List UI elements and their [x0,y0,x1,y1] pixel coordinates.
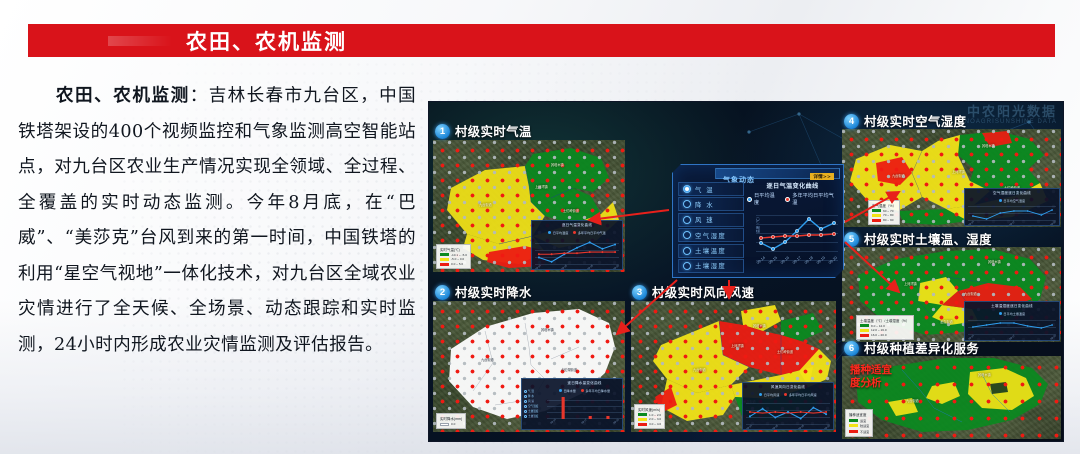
minichart-legend: 日平均风速 多年平均日平均风速 [743,392,833,397]
legend-swatch [849,424,858,427]
legend-entry: 日平均空气湿度 [999,198,1025,203]
radio-selected-icon [683,185,691,193]
radio-label: 土壤湿度 [695,261,726,270]
panel-title-4: 村级实时空气湿度 [864,112,966,130]
village-name: 九台街道 [481,357,494,362]
hud-chart-xaxis: 09-14 09-15 09-16 09-17 09-18 09-19 09-2… [756,262,838,266]
panel-title-1: 村级实时气温 [455,122,532,140]
radio-option-air-humidity[interactable]: 空气湿度 [678,228,744,242]
xtick: 09-14 [535,264,542,270]
legend-label: 日降水量 [563,388,575,393]
legend-row: 3.0 ~ 4.0 [638,422,661,426]
legend-value: 8.0 ~ 12.0 [871,324,885,328]
legend-label: 多年平均日降水量 [585,388,610,393]
legend-dot-blue [747,197,752,202]
legend-row: -5.0 ~ 0.0 [440,257,467,261]
rain-radio-item: 气 温 [524,389,546,393]
radio-icon [683,216,691,224]
legend-label: 日平均温度 [553,230,568,235]
legend-swatch [440,258,449,261]
legend-row: 12.0 ~ 16.0 [860,328,910,332]
map-panel-4[interactable]: 其塔木镇 上河湾镇 九台街道 土们岭街道 空气湿度（%） 60 ~ 70 70 … [842,129,1061,227]
minichart-xaxis: 09-14 09-16 09-18 09-20 [535,266,619,269]
xtick: 09-17 [581,418,588,424]
radio-option-wind-speed[interactable]: 风 速 [678,213,744,227]
minichart-title: 风速风向日变化曲线 [743,385,833,390]
legend-swatch [440,423,449,426]
radio-icon [683,247,691,255]
legend-row: 0.0 [440,422,462,426]
xtick: 09-20 [612,264,619,270]
hud-line-chart[interactable]: 逐日气温变化曲线 日平均温度 多年平均日平均气温 温度（℃） [747,181,838,273]
radio-label: 气 温 [528,389,534,393]
village-name: 土们岭街道 [563,208,579,213]
legend-title: 土壤温度（℃）/土壤湿度（%） [860,318,910,323]
rain-radio-item: 土壤湿度 [524,414,546,418]
legend-temperature: 实时气温(℃) -10.1 ~ -5.0 -5.0 ~ 0.0 0.0 ~ 5.… [436,244,471,269]
village-name: 土们岭街道 [777,349,793,354]
xtick: 09-20 [1049,334,1056,340]
body-paragraph: 农田、农机监测：吉林长春市九台区，中国铁塔架设的400个视频监控和气象监测高空智… [18,78,416,438]
legend-swatch [872,219,881,222]
village-name: 九台街道 [964,291,977,296]
slide-canvas: 农田、农机监测 农田、农机监测：吉林长春市九台区，中国铁塔架设的400个视频监控… [0,0,1080,454]
legend-entry-multiyear-mean: 多年平均日平均气温 [785,192,838,206]
panel-title-3: 村级实时风向风速 [652,283,754,301]
village-name: 上河湾镇 [535,184,548,189]
legend-swatch [860,334,869,337]
legend-swatch [849,419,858,422]
title-decoration [108,36,172,46]
legend-value: 3.0 ~ 4.0 [649,422,661,426]
legend-dot [784,393,787,396]
map-panel-2[interactable]: 其塔木镇 九台街道 卡伦湖街道 实时降水(mm) 0.0 气 温 降 水 风 速… [433,301,625,432]
legend-value: -5.0 ~ 0.0 [451,257,464,261]
radio-icon[interactable] [524,405,527,408]
legend-label: 日平均温度 [754,192,779,206]
hud-variable-radio-group[interactable]: 气 温 降 水 风 速 空气湿度 土壤温度 [678,182,744,274]
minichart-title: 土壤温湿度逐日变化曲线 [965,304,1059,309]
chart-series [968,205,1056,221]
xtick: 09-16 [561,264,568,270]
legend-row: 80 ~ 90 [872,218,896,222]
rain-radio-item: 风 速 [524,399,546,403]
minichart-xaxis: 09-14 09-17 09-20 [968,336,1056,339]
village-name: 其塔木镇 [988,259,1001,264]
legend-label: 多年平均日平均气温 [578,230,606,235]
legend-dot [559,389,562,392]
legend-label: 日平均风速 [764,392,779,397]
legend-value: 70 ~ 80 [883,213,893,217]
panel-label-2[interactable]: 2 村级实时降水 [435,283,532,301]
legend-row: 1.0 ~ 2.0 [638,413,661,417]
legend-entry-daily-mean: 日平均温度 [747,192,779,206]
radio-icon [683,231,691,239]
legend-value: 16.0 ~ 20.0 [871,333,887,337]
radio-option-soil-temp[interactable]: 土壤温度 [678,244,744,258]
panel-badge-5: 5 [844,232,859,247]
minichart-temperature[interactable]: 逐日气温变化曲线 日平均温度 多年平均日平均气温 09-14 [531,220,623,270]
legend-value: 12.0 ~ 16.0 [871,328,887,332]
radio-option-precipitation[interactable]: 降 水 [678,197,744,211]
xtick: 09-14 [550,418,557,424]
village-name: 上河湾镇 [731,343,744,348]
rain-radio-item: 空气湿度 [524,404,546,408]
panel-title-6: 村级种植差异化服务 [864,339,979,357]
legend-row: 较适宜 [849,423,869,428]
minichart-soil[interactable]: 土壤温湿度逐日变化曲线 日平均土壤温度 09-14 09-17 09-20 [964,301,1060,341]
hud-chart-plot: 温度（℃） [756,209,838,261]
minichart-humidity[interactable]: 空气湿度逐日变化曲线 日平均空气湿度 09-14 09-17 09-20 [964,188,1060,226]
minichart-legend: 日降水量 多年平均日降水量 [547,388,622,393]
legend-swatch [440,263,449,266]
village-name: 其塔木镇 [982,143,995,148]
panel-badge-1: 1 [435,124,450,139]
radio-option-soil-humidity[interactable]: 土壤湿度 [678,259,744,273]
minichart-title: 逐日降水量变化曲线 [547,381,622,386]
minichart-plot [968,318,1056,335]
radio-label: 气 温 [695,185,714,194]
rain-radio-item: 土壤温度 [524,409,546,413]
village-name: 其塔木镇 [551,162,564,167]
legend-entry: 日降水量 [559,388,576,393]
legend-value: 0.0 [451,422,455,426]
minichart-plot [535,237,619,265]
minichart-legend: 日平均土壤温度 [965,311,1059,316]
legend-value: 0.0 ~ 5.0 [451,262,463,266]
legend-swatch [860,324,869,327]
village-name: 九台街道 [892,173,905,178]
legend-dot [581,389,584,392]
chart-series [968,318,1056,335]
legend-label: 日平均空气湿度 [1003,198,1025,203]
minichart-plot [968,205,1056,221]
legend-label: 多年平均日平均风速 [789,392,817,397]
rain-radio-item: 降 水 [524,394,546,398]
minichart-xaxis: 09-14 09-17 09-20 [968,222,1056,225]
minichart-rainfall[interactable]: 气 温 降 水 风 速 空气湿度 土壤温度 土壤湿度 逐日降水量变化曲线 日降水… [521,378,623,430]
radio-label: 空气湿度 [528,404,538,408]
minichart-wind[interactable]: 风速风向日变化曲线 日平均风速 多年平均日平均风速 09-14 [742,382,834,430]
legend-value: 适宜 [860,418,866,423]
paragraph-colon: ： [190,86,209,106]
legend-entry: 日平均土壤温度 [999,311,1025,316]
hud-more-button[interactable]: 详情>> [810,173,834,180]
radio-label: 土壤湿度 [528,414,538,418]
xtick: 09-18 [797,424,804,430]
legend-value: 不适宜 [860,429,869,434]
legend-dot [999,312,1002,315]
legend-row: 2.0 ~ 3.0 [638,417,661,421]
xtick: 09-16 [772,424,779,430]
village-name: 卡伦湖街道 [561,367,577,372]
legend-dot [759,393,762,396]
chart-series [746,399,830,425]
weather-hud-panel[interactable]: 气象动态 详情>> 气 温 降 水 风 速 空气湿度 [672,164,844,278]
radio-icon[interactable] [524,390,527,393]
legend-dot [999,199,1002,202]
minichart-title: 逐日气温变化曲线 [532,223,622,228]
legend-humidity: 空气湿度（%） 60 ~ 70 70 ~ 80 80 ~ 90 [868,200,900,225]
legend-row: 0.0 ~ 5.0 [440,262,467,266]
radio-icon[interactable] [524,395,527,398]
legend-label: 日平均土壤温度 [1003,311,1025,316]
legend-title: 实时降水(mm) [440,416,462,421]
radio-label: 空气湿度 [695,231,726,240]
village-name: 上河湾镇 [952,169,965,174]
legend-value: 2.0 ~ 3.0 [649,417,661,421]
legend-entry: 多年平均日降水量 [581,388,610,393]
legend-entry: 多年平均日平均气温 [573,230,605,235]
legend-title: 实时气温(℃) [440,247,467,252]
panel6-overlay-text: 播种适宜度分析 [850,364,892,390]
legend-row: 70 ~ 80 [872,213,896,217]
map-panel-1[interactable]: 其塔木镇 上河湾镇 九台街道 土们岭街道 实时气温(℃) -10.1 ~ -5.… [433,140,625,272]
village-name: 上河湾镇 [904,281,917,286]
legend-wind: 实时风速(m/s) 1.0 ~ 2.0 2.0 ~ 3.0 3.0 ~ 4.0 [634,404,665,429]
xtick: 09-20 [612,418,619,424]
village-name: 龙嘉街道 [940,319,953,324]
legend-swatch [860,329,869,332]
legend-row: 适宜 [849,418,869,423]
dashboard-screenshot: 中农阳光数据 SINOAGRISUNSHINE DATA 1 村级实时气温 [428,101,1064,442]
legend-row: -10.1 ~ -5.0 [440,253,467,257]
hud-header-bar: 气象动态 详情>> [715,168,840,179]
radio-label: 风 速 [695,215,714,224]
chart-series [535,237,619,265]
radio-label: 风 速 [528,399,534,403]
village-name: 九台街道 [479,202,492,207]
legend-value: 1.0 ~ 2.0 [649,413,661,417]
village-name: 其塔木镇 [978,372,991,377]
legend-dot [548,231,551,234]
legend-dot [573,231,576,234]
map-panel-3[interactable]: 其塔木镇 上河湾镇 土们岭街道 九台街道 龙嘉街道 实时风速(m/s) 1.0 … [631,301,836,432]
legend-entry: 多年平均日平均风速 [784,392,816,397]
map-panel-5[interactable]: 其塔木镇 上河湾镇 九台街道 土们岭街道 龙嘉街道 土壤温度（℃）/土壤湿度（%… [842,247,1061,342]
xtick: 09-18 [586,264,593,270]
minichart-plot [746,399,830,425]
hud-chart-series [756,209,838,261]
xtick: 09-20 [1049,220,1056,226]
panel-label-3[interactable]: 3 村级实时风向风速 [632,283,754,301]
village-name: 其塔木镇 [541,327,554,332]
legend-row: 不适宜 [849,429,869,434]
radio-label: 降 水 [528,394,534,398]
xtick: 09-14 [746,424,753,430]
legend-swatch [638,418,647,421]
minichart-legend: 日平均温度 多年平均日平均气温 [532,230,622,235]
radio-icon [683,262,691,270]
panel-label-1[interactable]: 1 村级实时气温 [435,122,532,140]
legend-entry: 日平均风速 [759,392,779,397]
radio-icon[interactable] [524,415,527,418]
map-panel-6[interactable]: 其塔木镇 九台街道 播种适宜度分析 播种适宜度 适宜 较适宜 不适宜 [842,356,1061,439]
rain-radio-list[interactable]: 气 温 降 水 风 速 空气湿度 土壤温度 土壤湿度 [524,389,546,418]
xtick: 09-17 [1009,220,1016,226]
panel-label-5[interactable]: 5 村级实时土壤温、湿度 [844,230,992,248]
legend-title: 空气湿度（%） [872,203,896,208]
rain-bars [547,395,622,419]
hud-chart-title: 逐日气温变化曲线 [747,181,838,190]
legend-entry: 日平均温度 [548,230,568,235]
legend-swatch [440,253,449,256]
village-name: 九台街道 [693,367,706,372]
radio-label: 土壤温度 [695,246,726,255]
panel-badge-6: 6 [844,341,859,356]
xtick: 09-20 [823,424,830,430]
radio-icon [683,200,691,208]
legend-value: 60 ~ 70 [883,209,893,213]
legend-soil: 土壤温度（℃）/土壤湿度（%） 8.0 ~ 12.0 12.0 ~ 16.0 1… [856,315,914,340]
panel-label-6[interactable]: 6 村级种植差异化服务 [844,339,979,357]
radio-label: 土壤温度 [528,409,538,413]
panel-badge-2: 2 [435,285,450,300]
chart-series [547,395,622,419]
legend-swatch [638,423,647,426]
village-name: 其塔木镇 [753,323,766,328]
panel-label-4[interactable]: 4 村级实时空气湿度 [844,112,966,130]
panel-badge-4: 4 [844,114,859,129]
legend-dot-red [785,197,790,202]
legend-value: 80 ~ 90 [883,218,893,222]
legend-title: 播种适宜度 [849,412,869,417]
legend-title: 实时风速(m/s) [638,407,661,412]
radio-option-air-temp[interactable]: 气 温 [678,182,744,196]
legend-label: 多年平均日平均气温 [792,192,838,206]
legend-row: 16.0 ~ 20.0 [860,333,910,337]
legend-swatch [638,413,647,416]
radio-label: 降 水 [695,200,714,209]
legend-value: -10.1 ~ -5.0 [451,253,467,257]
village-name: 九台街道 [906,398,919,403]
panel-badge-3: 3 [632,285,647,300]
minichart-title: 空气湿度逐日变化曲线 [965,191,1059,196]
minichart-xaxis: 09-14 09-17 09-20 [550,420,619,423]
slide-title-bar: 农田、农机监测 [28,24,1055,57]
page-title: 农田、农机监测 [186,26,347,56]
panel-title-5: 村级实时土壤温、湿度 [864,230,992,248]
xtick: 09-14 [968,220,975,226]
rain-chart-area: 逐日降水量变化曲线 日降水量 多年平均日降水量 0 [547,381,622,423]
minichart-legend: 日平均空气湿度 [965,198,1059,203]
legend-rainfall: 实时降水(mm) 0.0 [436,413,466,429]
legend-row: 8.0 ~ 12.0 [860,324,910,328]
legend-swatch [872,214,881,217]
radio-icon[interactable] [524,410,527,413]
minichart-xaxis: 09-14 09-16 09-18 09-20 [746,426,830,429]
paragraph-lead: 农田、农机监测 [55,85,190,106]
hud-chart-legend: 日平均温度 多年平均日平均气温 [747,192,838,206]
legend-planting: 播种适宜度 适宜 较适宜 不适宜 [845,409,873,437]
xtick: 09-17 [1009,334,1016,340]
panel-title-2: 村级实时降水 [455,283,532,301]
paragraph-text: 吉林长春市九台区，中国铁塔架设的400个视频监控和气象监测高空智能站点，对九台区… [18,86,416,355]
legend-row: 60 ~ 70 [872,209,896,213]
radio-icon[interactable] [524,400,527,403]
legend-swatch [872,209,881,212]
legend-value: 较适宜 [860,423,869,428]
legend-swatch [849,430,858,433]
